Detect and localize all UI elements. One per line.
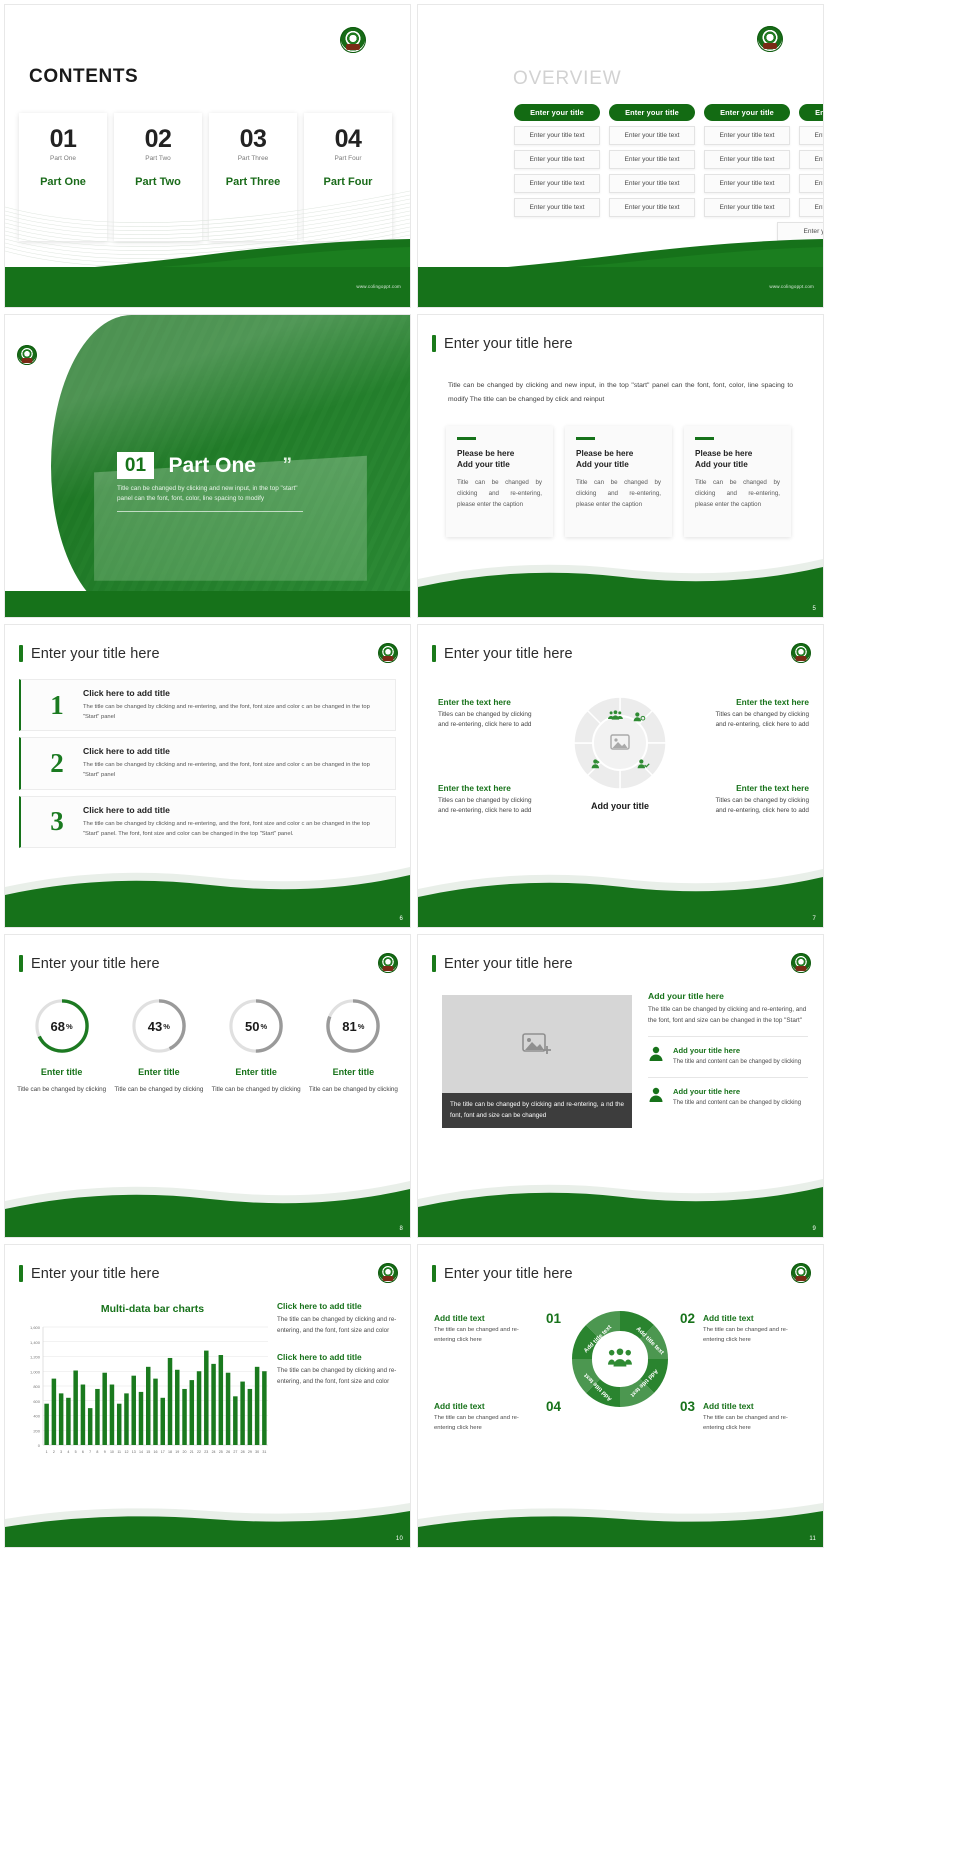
cycle-number-03: 03 [680,1399,695,1414]
info-card[interactable]: Please be hereAdd your title Title can b… [565,426,672,537]
percent-ring-item[interactable]: 81% Enter title Title can be changed by … [307,997,399,1095]
progress-ring: 81% [324,997,382,1055]
cell-body: The title can be changed and re-entering… [703,1414,807,1433]
card-title-line1: Please be here [576,449,633,458]
svg-text:15: 15 [146,1450,150,1454]
title-accent-bar [19,955,23,972]
overview-item[interactable]: Enter your title text [609,150,695,169]
svg-text:12: 12 [124,1450,128,1454]
page-title: Enter your title here [31,1266,160,1282]
svg-text:10: 10 [110,1450,114,1454]
overview-item[interactable]: Enter your title text [514,174,600,193]
progress-ring: 68% [33,997,91,1055]
overview-item[interactable]: Enter your title text [704,126,790,145]
cycle-diagram[interactable]: Add title text Add title text Add title … [564,1303,676,1415]
chart-side-notes: Click here to add title The title can be… [277,1301,399,1388]
svg-text:2: 2 [53,1450,55,1454]
progress-ring: 43% [130,997,188,1055]
cell-body: The title can be changed and re-entering… [703,1326,807,1345]
svg-text:0: 0 [38,1443,41,1448]
item-title: Click here to add title [83,688,385,698]
percent-unit: % [163,1022,170,1031]
item-number: 3 [31,808,83,835]
note-title: Click here to add title [277,1352,399,1362]
cycle-cell-top-left: Add title text The title can be changed … [434,1313,538,1345]
item-title: Click here to add title [83,746,385,756]
svg-text:14: 14 [139,1450,143,1454]
note-body: The title can be changed by clicking and… [277,1366,399,1387]
progress-ring: 50% [227,997,285,1055]
footer-url: www.colingoppt.com [769,284,814,289]
item-body: The title and content can be changed by … [673,1099,801,1109]
slide-title: Enter your title here [432,955,573,972]
page-number: 6 [399,916,403,922]
quadrant-text-top-right: Enter the text here Titles can be change… [705,697,809,731]
page-number: 11 [809,1536,816,1542]
svg-text:1: 1 [46,1450,48,1454]
svg-text:27: 27 [233,1450,237,1454]
svg-text:7: 7 [89,1450,91,1454]
page-number: 9 [812,1226,816,1232]
quadrant-body: Titles can be changed by clicking and re… [705,710,809,731]
bar-chart[interactable]: 02004006008001,0001,2001,4001,6001234567… [17,1321,272,1461]
overview-item[interactable]: Enter your title text [799,150,823,169]
overview-item[interactable]: Enter your title text [704,174,790,193]
card-subtitle: Part Three [238,155,269,162]
title-accent-bar [432,335,436,352]
school-crest-icon [791,643,811,663]
page-title: Enter your title here [31,646,160,662]
overview-item[interactable]: Enter your title text [799,198,823,217]
slide-title: Enter your title here [432,645,573,662]
quadrant-text-bottom-right: Enter the text here Titles can be change… [705,783,809,817]
svg-text:11: 11 [117,1450,121,1454]
svg-text:4: 4 [67,1450,69,1454]
donut-diagram[interactable] [570,693,670,793]
svg-text:18: 18 [168,1450,172,1454]
page-title: CONTENTS [29,66,138,88]
svg-text:23: 23 [204,1450,208,1454]
school-crest-icon [378,953,398,973]
section-title: Part One [168,454,256,478]
overview-column: Enter your title Enter your title text E… [609,104,695,241]
footer-band [5,267,410,307]
percent-value: 43 [148,1019,162,1034]
numbered-row-list: 1 Click here to add title The title can … [19,679,396,848]
green-wave-decoration [418,1501,823,1547]
column-header-pill[interactable]: Enter your title [514,104,600,121]
title-accent-bar [432,1265,436,1282]
slide-deck: CONTENTS 01 Part One Part One 02 Part Tw… [0,0,960,1547]
diagram-caption: Add your title [570,801,670,811]
footer-url: www.colingoppt.com [356,284,401,289]
svg-text:25: 25 [219,1450,223,1454]
cycle-cell-bottom-left: Add title text The title can be changed … [434,1401,538,1433]
card-list: Please be hereAdd your title Title can b… [446,426,791,537]
ring-title: Enter title [210,1067,302,1077]
card-accent-dash [576,437,595,440]
lead-paragraph: Title can be changed by clicking and new… [448,379,793,407]
card-title-line1: Please be here [457,449,514,458]
svg-text:20: 20 [183,1450,187,1454]
slide-cycle-diagram[interactable]: Enter your title here Add title text The… [418,1245,823,1547]
overview-item[interactable]: Enter your title text [609,198,695,217]
cycle-cell-top-right: Add title text The title can be changed … [703,1313,807,1345]
quadrant-text-top-left: Enter the text here Titles can be change… [438,697,542,731]
svg-text:3: 3 [60,1450,62,1454]
quadrant-title: Enter the text here [705,697,809,707]
overview-column: Enter your title Enter your title text E… [514,104,600,241]
card-body: Title can be changed by clicking and re-… [576,478,661,511]
quadrant-body: Titles can be changed by clicking and re… [705,796,809,817]
page-title: Enter your title here [444,646,573,662]
percent-value: 81 [342,1019,356,1034]
school-crest-icon [791,1263,811,1283]
footer-band [5,591,410,617]
title-accent-bar [432,645,436,662]
overview-column: Enter your title Enter your title text E… [704,104,790,241]
column-header-pill[interactable]: Enter your title [609,104,695,121]
slide-title: Enter your title here [19,955,160,972]
school-crest-icon [340,27,366,53]
cell-title: Add title text [434,1401,538,1411]
green-wave-decoration [418,553,823,617]
person-icon [648,1046,666,1068]
overview-item[interactable]: Enter your title text [609,174,695,193]
overview-item[interactable]: Enter your title text [514,150,600,169]
right-content: Add your title here The title can be cha… [648,991,808,1108]
svg-text:19: 19 [175,1450,179,1454]
section-heading-group: 01 Part One ” Title can be changed by cl… [117,452,307,512]
overview-item[interactable]: Enter your title text [609,126,695,145]
person-icon [648,1087,666,1109]
item-body: The title can be changed by clicking and… [83,819,385,839]
cell-title: Add title text [703,1401,807,1411]
column-header-pill[interactable]: Enter your title [799,104,823,121]
green-wave-decoration [5,863,410,927]
card-accent-dash [695,437,714,440]
overview-column: Enter your title Enter your title text E… [799,104,823,241]
page-title: Enter your title here [444,1266,573,1282]
svg-text:1,600: 1,600 [30,1325,41,1330]
card-subtitle: Part Two [145,155,171,162]
info-card[interactable]: Please be hereAdd your title Title can b… [684,426,791,537]
card-body: Title can be changed by clicking and re-… [457,478,542,511]
quadrant-title: Enter the text here [438,783,542,793]
image-placeholder-icon [522,1032,552,1056]
page-number: 7 [812,916,816,922]
svg-text:8: 8 [96,1450,98,1454]
quadrant-body: Titles can be changed by clicking and re… [438,710,542,731]
slide-donut-diagram[interactable]: Enter your title here Enter the text her… [418,625,823,927]
quadrant-text-bottom-left: Enter the text here Titles can be change… [438,783,542,817]
section-description: Title can be changed by clicking and new… [117,484,307,504]
section-body: The title can be changed by clicking and… [648,1005,808,1027]
green-wave-decoration [418,1173,823,1237]
image-placeholder[interactable] [442,995,632,1093]
item-title: Click here to add title [83,805,385,815]
list-item[interactable]: Add your title here The title and conten… [648,1077,808,1109]
slide-three-cards[interactable]: Enter your title here Title can be chang… [418,315,823,617]
svg-text:6: 6 [82,1450,84,1454]
overview-item[interactable]: Enter your title text [514,126,600,145]
green-wave-decoration [5,1501,410,1547]
svg-text:22: 22 [197,1450,201,1454]
card-number: 01 [50,127,77,152]
svg-text:17: 17 [161,1450,165,1454]
page-title: OVERVIEW [513,68,621,90]
list-item[interactable]: 2 Click here to add title The title can … [19,737,396,789]
cycle-number-01: 01 [546,1311,561,1326]
ring-title: Enter title [16,1067,108,1077]
svg-text:31: 31 [262,1450,266,1454]
card-number: 03 [240,127,267,152]
overview-item[interactable]: Enter your title text [799,126,823,145]
info-card[interactable]: Please be hereAdd your title Title can b… [446,426,553,537]
item-title: Add your title here [673,1087,801,1096]
image-caption: The title can be changed by clicking and… [442,1093,632,1128]
overview-item[interactable]: Enter your title text [704,150,790,169]
footer-band [418,267,823,307]
svg-text:1,200: 1,200 [30,1355,41,1360]
card-subtitle: Part One [50,155,76,162]
slide-percent-rings[interactable]: Enter your title here 68% Enter title Ti… [5,935,410,1237]
cycle-number-04: 04 [546,1399,561,1414]
section-number-badge: 01 [117,452,154,479]
item-title: Add your title here [673,1046,801,1055]
percent-ring-item[interactable]: 43% Enter title Title can be changed by … [113,997,205,1095]
percent-unit: % [358,1022,365,1031]
svg-text:24: 24 [212,1450,216,1454]
green-wave-decoration [5,1173,410,1237]
card-title-line2: Add your title [576,460,629,469]
slide-contents[interactable]: CONTENTS 01 Part One Part One 02 Part Tw… [5,5,410,307]
svg-text:9: 9 [104,1450,106,1454]
slide-overview[interactable]: OVERVIEW Enter your title Enter your tit… [418,5,823,307]
svg-text:1,400: 1,400 [30,1340,41,1345]
svg-text:16: 16 [154,1450,158,1454]
item-body: The title and content can be changed by … [673,1058,801,1068]
column-header-pill[interactable]: Enter your title [704,104,790,121]
svg-text:30: 30 [255,1450,259,1454]
ring-title: Enter title [307,1067,399,1077]
percent-ring-item[interactable]: 68% Enter title Title can be changed by … [16,997,108,1095]
cell-title: Add title text [434,1313,538,1323]
card-number: 04 [335,127,362,152]
item-number: 2 [31,750,83,777]
svg-text:400: 400 [33,1414,40,1419]
overview-columns: Enter your title Enter your title text E… [514,104,823,241]
list-item[interactable]: 3 Click here to add title The title can … [19,796,396,848]
page-number: 10 [396,1536,403,1542]
card-title-line2: Add your title [457,460,510,469]
quote-mark-icon: ” [282,455,292,477]
overview-item[interactable]: Enter your title text [514,198,600,217]
item-number: 1 [31,692,83,719]
school-crest-icon [757,26,783,52]
chart-title: Multi-data bar charts [35,1303,270,1315]
slide-image-and-list[interactable]: Enter your title here The title can be c… [418,935,823,1237]
cycle-number-02: 02 [680,1311,695,1326]
page-title: Enter your title here [31,956,160,972]
school-crest-icon [791,953,811,973]
cycle-cell-bottom-right: Add title text The title can be changed … [703,1401,807,1433]
svg-text:13: 13 [132,1450,136,1454]
svg-text:29: 29 [248,1450,252,1454]
title-accent-bar [19,1265,23,1282]
percent-unit: % [261,1022,268,1031]
ring-body: Title can be changed by clicking [16,1085,108,1095]
svg-text:600: 600 [33,1399,40,1404]
slide-title: Enter your title here [432,335,573,352]
card-accent-dash [457,437,476,440]
percent-unit: % [66,1022,73,1031]
cell-title: Add title text [703,1313,807,1323]
school-crest-icon [17,345,37,365]
note-title: Click here to add title [277,1301,399,1311]
slide-title: Enter your title here [19,1265,160,1282]
ring-body: Title can be changed by clicking [210,1085,302,1095]
slide-title: Enter your title here [19,645,160,662]
svg-text:21: 21 [190,1450,194,1454]
list-item[interactable]: 1 Click here to add title The title can … [19,679,396,731]
percent-ring-item[interactable]: 50% Enter title Title can be changed by … [210,997,302,1095]
page-title: Enter your title here [444,336,573,352]
slide-title: Enter your title here [432,1265,573,1282]
svg-text:1,000: 1,000 [30,1369,41,1374]
svg-text:800: 800 [33,1384,40,1389]
school-crest-icon [378,643,398,663]
list-item[interactable]: Add your title here The title and conten… [648,1036,808,1068]
ring-body: Title can be changed by clicking [113,1085,205,1095]
note-body: The title can be changed by clicking and… [277,1315,399,1336]
card-body: Title can be changed by clicking and re-… [695,478,780,511]
cell-body: The title can be changed and re-entering… [434,1326,538,1345]
divider [117,511,303,512]
percent-value: 50 [245,1019,259,1034]
title-accent-bar [432,955,436,972]
ring-body: Title can be changed by clicking [307,1085,399,1095]
title-accent-bar [19,645,23,662]
ring-title: Enter title [113,1067,205,1077]
overview-item[interactable]: Enter your title text [799,174,823,193]
percent-ring-list: 68% Enter title Title can be changed by … [13,997,402,1095]
quadrant-title: Enter the text here [705,783,809,793]
svg-text:200: 200 [33,1428,40,1433]
card-title-line1: Please be here [695,449,752,458]
card-title-line2: Add your title [695,460,748,469]
slide-bar-chart[interactable]: Enter your title here Multi-data bar cha… [5,1245,410,1547]
svg-text:26: 26 [226,1450,230,1454]
item-body: The title can be changed by clicking and… [83,760,385,780]
school-crest-icon [378,1263,398,1283]
item-body: The title can be changed by clicking and… [83,702,385,722]
percent-value: 68 [51,1019,65,1034]
green-wave-decoration [418,863,823,927]
quadrant-title: Enter the text here [438,697,542,707]
card-number: 02 [145,127,172,152]
page-number: 8 [399,1226,403,1232]
quadrant-body: Titles can be changed by clicking and re… [438,796,542,817]
card-subtitle: Part Four [334,155,361,162]
overview-item[interactable]: Enter your title text [704,198,790,217]
page-number: 5 [812,606,816,612]
svg-text:28: 28 [241,1450,245,1454]
page-title: Enter your title here [444,956,573,972]
cell-body: The title can be changed and re-entering… [434,1414,538,1433]
slide-section-cover[interactable]: 01 Part One ” Title can be changed by cl… [5,315,410,617]
slide-numbered-list[interactable]: Enter your title here 1 Click here to ad… [5,625,410,927]
section-title: Add your title here [648,991,808,1001]
svg-text:5: 5 [75,1450,77,1454]
